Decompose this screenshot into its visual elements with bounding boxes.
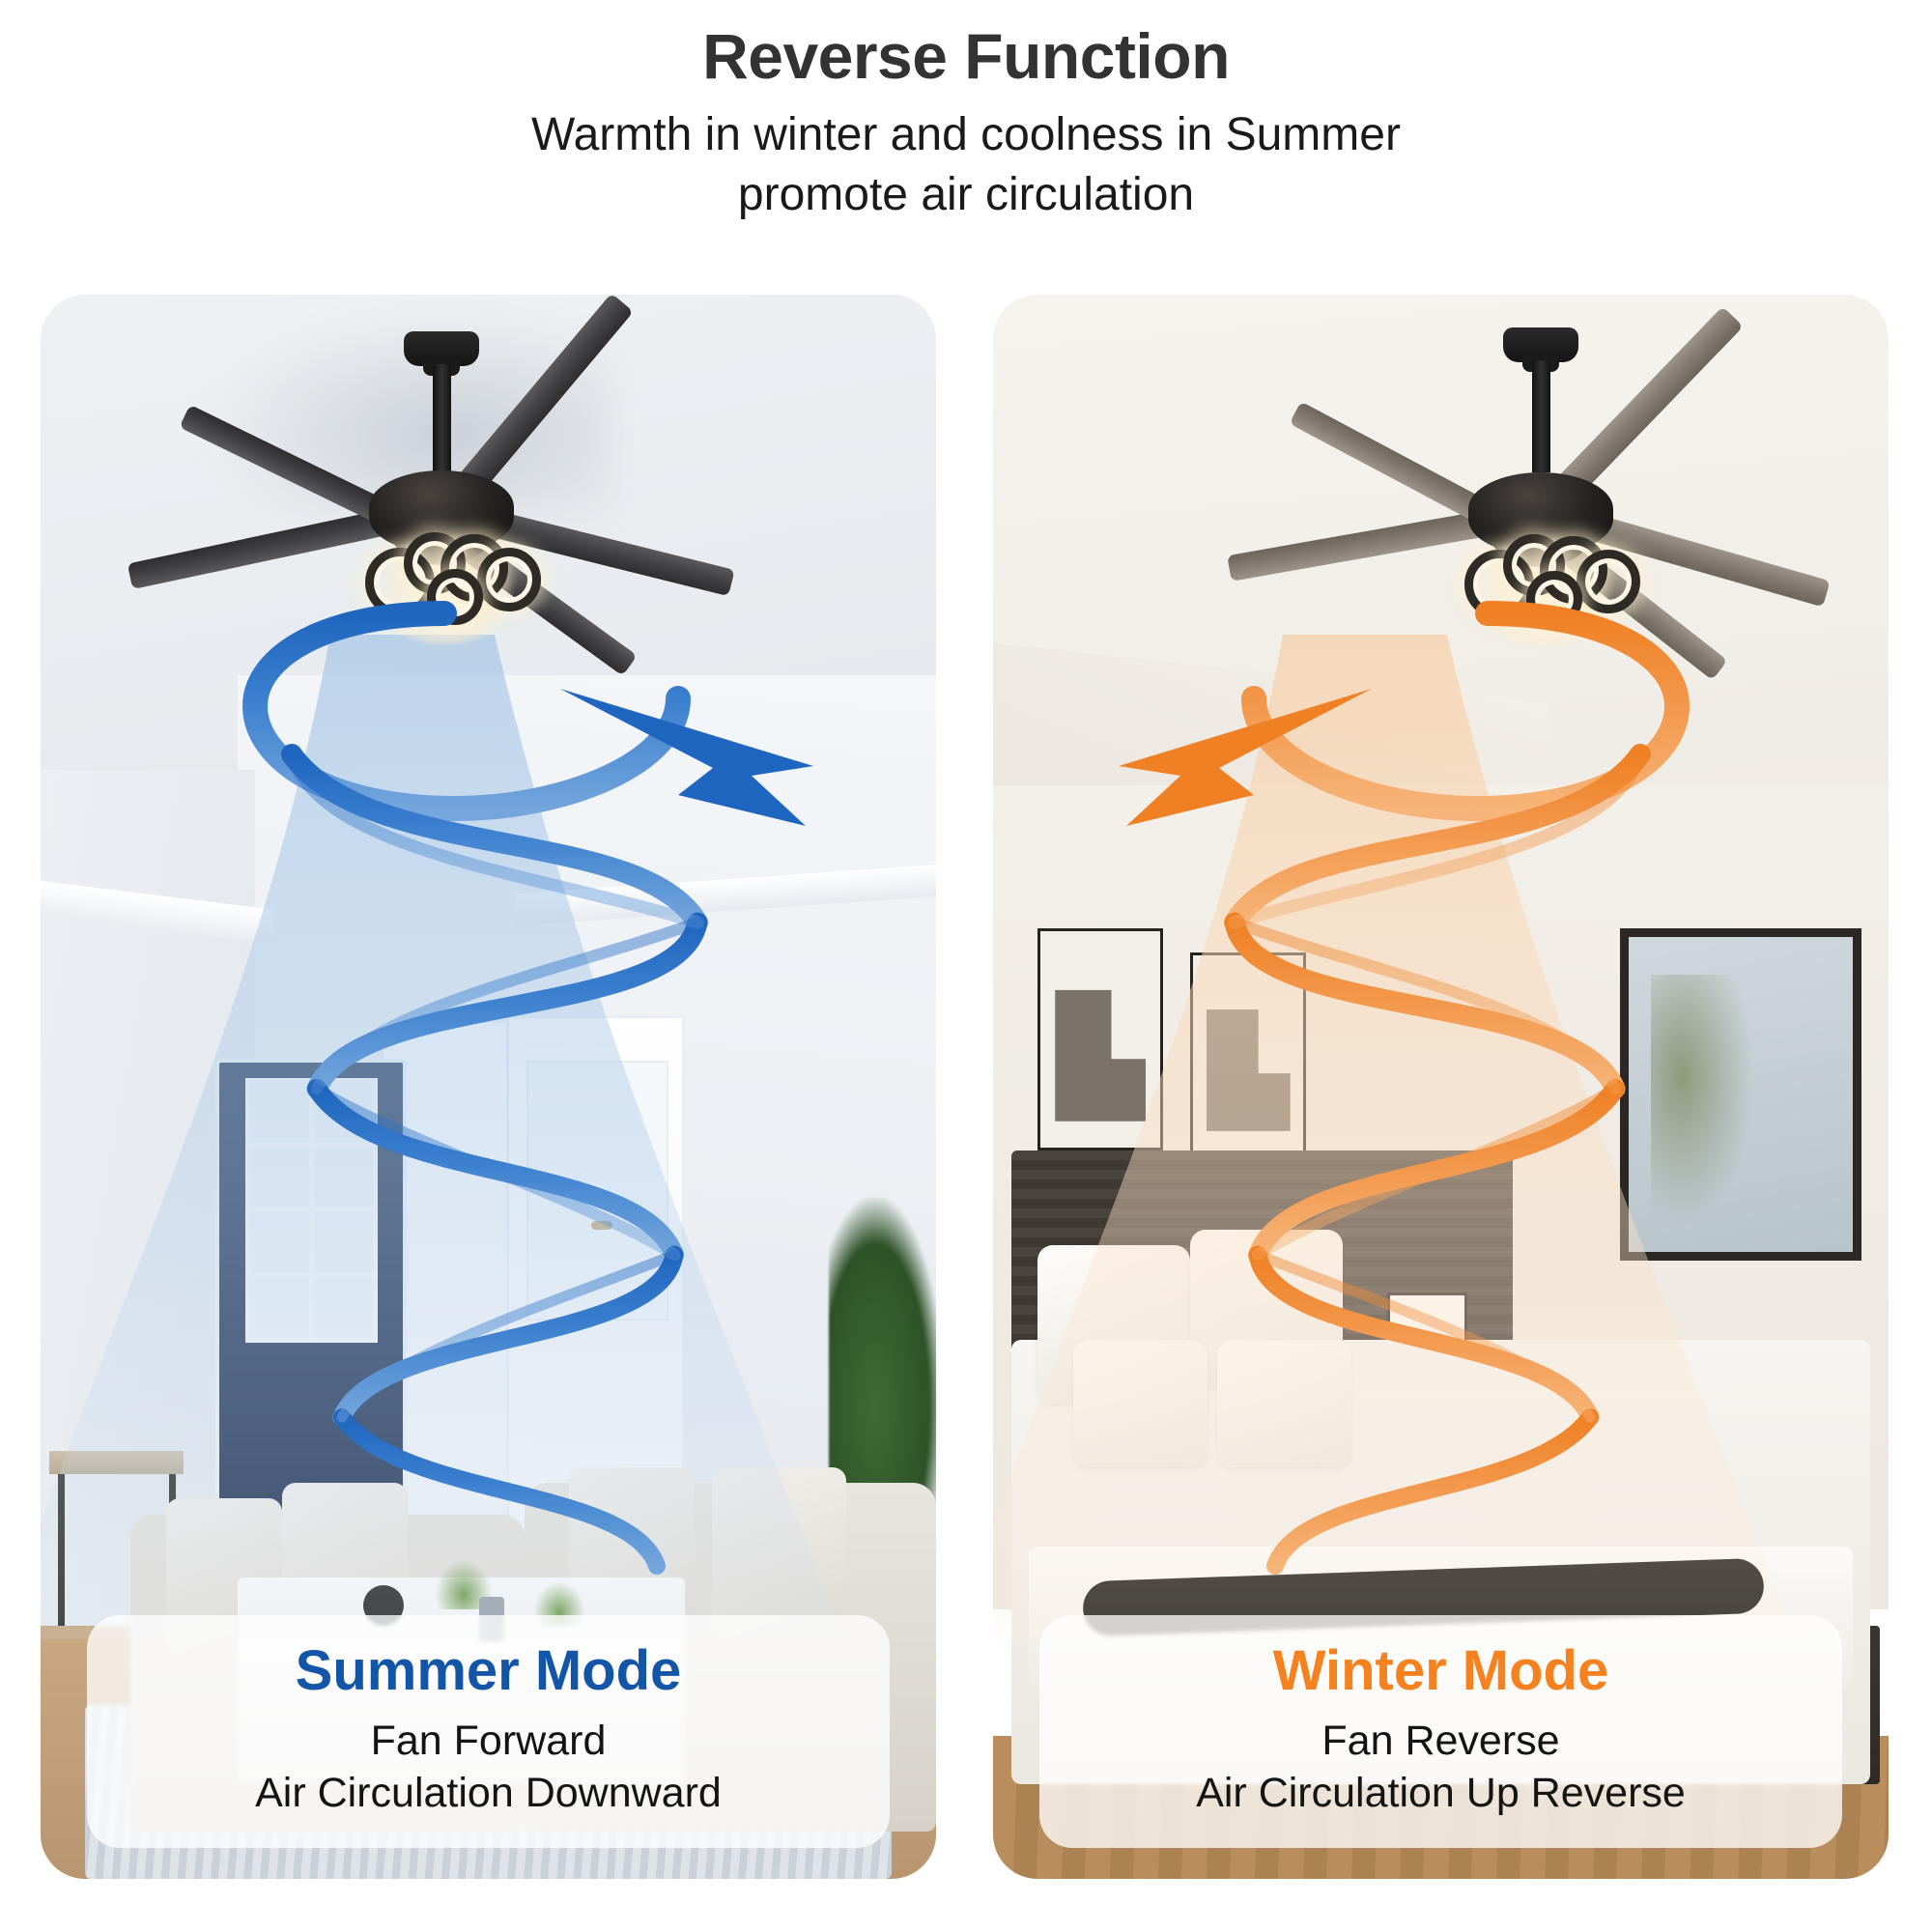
mode-detail-line-2: Air Circulation Up Reverse — [1057, 1767, 1825, 1819]
subtitle-line-2: promote air circulation — [0, 165, 1932, 224]
page-title: Reverse Function — [0, 23, 1932, 90]
mode-title-summer: Summer Mode — [104, 1640, 872, 1703]
light-ring — [477, 548, 541, 611]
mode-detail-line-2: Air Circulation Downward — [104, 1767, 872, 1819]
light-ring — [1577, 550, 1640, 613]
caption-card-winter: Winter Mode Fan Reverse Air Circulation … — [1039, 1615, 1842, 1848]
fan-canopy — [1503, 327, 1578, 362]
infographic-root: Reverse Function Warmth in winter and co… — [0, 0, 1932, 1932]
panel-summer-mode[interactable]: Summer Mode Fan Forward Air Circulation … — [41, 295, 936, 1879]
panel-winter-mode[interactable]: Winter Mode Fan Reverse Air Circulation … — [993, 295, 1889, 1879]
subtitle: Warmth in winter and coolness in Summer … — [0, 105, 1932, 224]
fan-downrod — [1532, 360, 1550, 472]
header: Reverse Function Warmth in winter and co… — [0, 0, 1932, 224]
caption-card-summer: Summer Mode Fan Forward Air Circulation … — [87, 1615, 890, 1848]
light-ring — [427, 569, 483, 625]
fan-downrod — [433, 364, 451, 472]
mode-detail-line-1: Fan Forward — [104, 1715, 872, 1767]
mode-detail-line-1: Fan Reverse — [1057, 1715, 1825, 1767]
mode-title-winter: Winter Mode — [1057, 1640, 1825, 1703]
subtitle-line-1: Warmth in winter and coolness in Summer — [0, 105, 1932, 164]
fan-canopy — [404, 331, 479, 366]
light-ring — [1526, 571, 1582, 627]
